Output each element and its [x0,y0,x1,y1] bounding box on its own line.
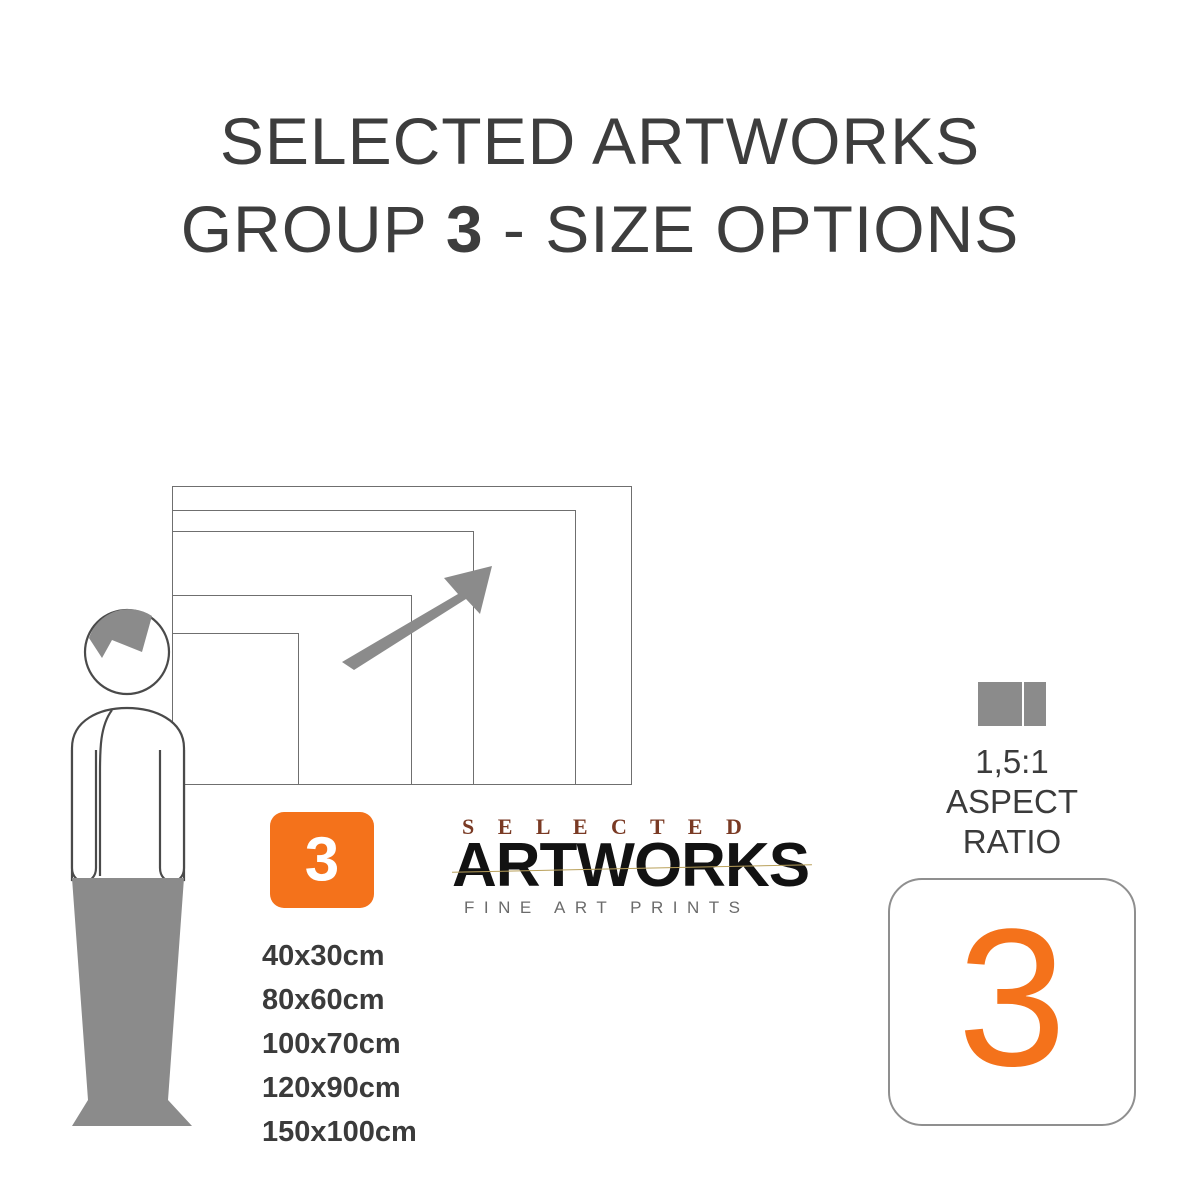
aspect-ratio-icon-divider [1022,682,1024,726]
growth-arrow-icon [340,562,520,672]
aspect-ratio-icon [978,682,1046,726]
size-option: 100x70cm [262,1022,602,1066]
logo-tagline: FINE ART PRINTS [464,898,749,918]
title-group-number: 3 [446,192,484,266]
size-options-list: 40x30cm 80x60cm 100x70cm 120x90cm 150x10… [262,934,602,1154]
size-option: 120x90cm [262,1066,602,1110]
brand-logo: S E L E C T E D ARTWORKS FINE ART PRINTS [452,812,824,920]
group-number-card: 3 [888,878,1136,1126]
size-option: 40x30cm [262,934,602,978]
title-group-word: GROUP [181,192,446,266]
group-number-card-value: 3 [890,900,1134,1096]
aspect-ratio-label-2: RATIO [890,822,1134,862]
title-line-1: SELECTED ARTWORKS [0,108,1200,174]
page-title: SELECTED ARTWORKS GROUP 3 - SIZE OPTIONS [0,108,1200,262]
person-scale-figure [42,600,262,1140]
aspect-ratio-value: 1,5:1 [890,742,1134,782]
aspect-ratio-label-1: ASPECT [890,782,1134,822]
title-line-2: GROUP 3 - SIZE OPTIONS [0,196,1200,262]
aspect-ratio-block: 1,5:1 ASPECT RATIO [890,742,1134,862]
title-size-options: - SIZE OPTIONS [484,192,1020,266]
group-badge-number: 3 [270,825,374,896]
size-option: 150x100cm [262,1110,602,1154]
size-option: 80x60cm [262,978,602,1022]
group-badge: 3 [270,812,374,908]
